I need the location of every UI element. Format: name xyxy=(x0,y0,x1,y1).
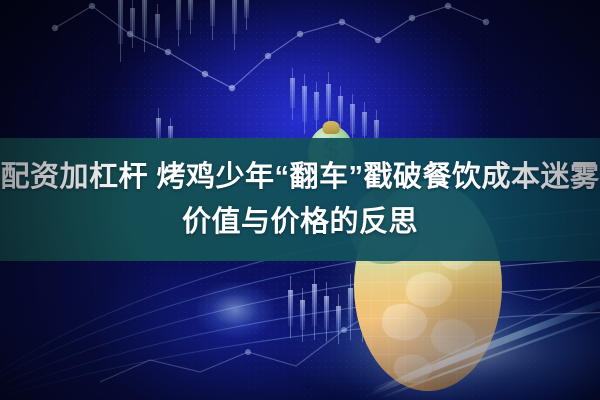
candlestick-group-top xyxy=(118,0,249,62)
title-line-2: 价值与价格的反思 xyxy=(182,201,418,243)
candlestick-body xyxy=(288,290,293,326)
candlestick-body xyxy=(155,14,160,38)
candlestick-body xyxy=(338,96,343,122)
candlestick-body xyxy=(176,0,181,30)
trend-polyline-lower xyxy=(100,276,600,382)
candlestick-body xyxy=(290,78,295,108)
banner-image: $ $ 配资加杠杆 烤鸡少年“翻车”戳破餐饮成本迷雾 价值与价格的反思 xyxy=(0,0,600,400)
chart-node-marker xyxy=(375,37,381,43)
candlestick-body xyxy=(312,284,317,326)
candlestick-body xyxy=(244,0,249,18)
chart-node-marker xyxy=(341,327,347,333)
candlestick-body xyxy=(302,86,307,122)
chart-node-marker xyxy=(445,3,451,9)
title-line-1: 配资加杠杆 烤鸡少年“翻车”戳破餐饮成本迷雾 xyxy=(0,156,599,198)
candlestick-body xyxy=(142,0,147,38)
glow-highlight xyxy=(196,282,274,338)
candlestick-body xyxy=(362,112,367,136)
candlestick-body xyxy=(118,0,123,44)
chart-node-marker xyxy=(409,15,415,21)
candlestick-body xyxy=(300,300,305,330)
candlestick-body xyxy=(130,8,135,38)
candlestick-body xyxy=(314,92,319,120)
chart-node-marker xyxy=(229,85,235,91)
chart-node-marker xyxy=(52,25,58,31)
candlestick-body xyxy=(232,0,237,34)
chart-node-marker xyxy=(202,71,208,77)
chart-node-marker xyxy=(483,19,489,25)
candlestick-body xyxy=(210,0,215,26)
chart-node-marker xyxy=(89,3,95,9)
chart-node-marker xyxy=(165,49,171,55)
candlestick-body xyxy=(326,84,331,118)
chart-node-marker xyxy=(297,31,303,37)
candlestick-body xyxy=(324,296,329,330)
chart-node-marker xyxy=(339,19,345,25)
candlestick-body xyxy=(348,288,353,328)
candlestick-body xyxy=(156,118,161,138)
candlestick-body xyxy=(188,0,193,20)
chart-node-marker xyxy=(245,349,251,355)
chart-node-marker xyxy=(265,53,271,59)
candlestick-body xyxy=(336,306,341,334)
title-block: 配资加杠杆 烤鸡少年“翻车”戳破餐饮成本迷雾 价值与价格的反思 xyxy=(0,138,600,261)
trend-polyline-upper xyxy=(52,3,489,91)
chart-node-marker xyxy=(127,31,133,37)
